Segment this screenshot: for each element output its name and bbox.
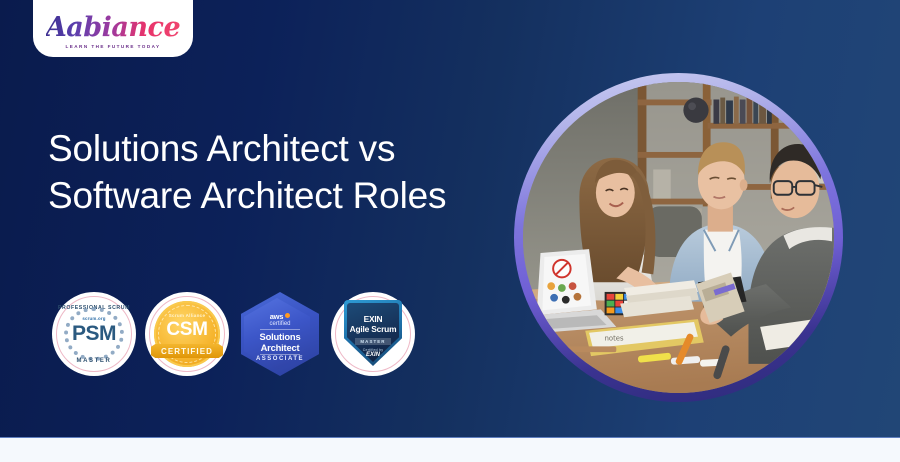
badge-psm-org: scrum.org bbox=[52, 316, 136, 321]
brand-logo[interactable]: Aabiance LEARN THE FUTURE TODAY bbox=[33, 0, 193, 57]
page-title: Solutions Architect vs Software Architec… bbox=[48, 125, 518, 220]
bottom-strip bbox=[0, 437, 900, 462]
divider-top bbox=[260, 329, 300, 330]
brand-tagline: LEARN THE FUTURE TODAY bbox=[66, 44, 161, 49]
divider-bottom bbox=[260, 354, 300, 355]
badge-aws-certified-label: certified bbox=[238, 321, 322, 327]
photo-gradient-ring: notes bbox=[514, 73, 843, 402]
certification-badge-row: PROFESSIONAL SCRUM scrum.org PSM MASTER … bbox=[52, 292, 415, 376]
badge-exin-title: EXIN Agile Scrum bbox=[339, 314, 407, 335]
badge-aws-level: ASSOCIATE bbox=[238, 356, 322, 362]
brand-wordmark: Aabiance bbox=[46, 14, 180, 41]
badge-aws-title: Solutions Architect bbox=[238, 332, 322, 354]
aws-smile-dot-icon bbox=[285, 313, 290, 318]
badge-psm-arc-bottom: MASTER bbox=[52, 358, 136, 364]
badge-aws-header: aws certified bbox=[238, 312, 322, 327]
badge-professional-scrum-master[interactable]: PROFESSIONAL SCRUM scrum.org PSM MASTER bbox=[52, 292, 136, 376]
badge-exin-level: MASTER bbox=[355, 338, 391, 345]
page-title-line-1: Solutions Architect vs bbox=[48, 125, 518, 172]
badge-exin-agile-scrum-master[interactable]: EXIN Agile Scrum MASTER Certified by EXI… bbox=[331, 292, 415, 376]
badge-exin-brand: EXIN bbox=[331, 352, 415, 358]
page-title-line-2: Software Architect Roles bbox=[48, 172, 518, 219]
badge-psm-acronym: PSM bbox=[52, 322, 136, 346]
svg-text:notes: notes bbox=[605, 335, 624, 343]
badge-csm-org: Scrum Alliance bbox=[145, 313, 229, 318]
badge-aws-solutions-architect[interactable]: aws certified Solutions Architect ASSOCI… bbox=[238, 292, 322, 376]
aws-logo: aws bbox=[238, 312, 322, 321]
hero-banner: Aabiance LEARN THE FUTURE TODAY Solution… bbox=[0, 0, 900, 437]
badge-csm-ribbon: CERTIFIED bbox=[151, 344, 223, 358]
team-study-photo: notes bbox=[523, 82, 834, 393]
badge-certified-scrum-master[interactable]: Scrum Alliance CSM CERTIFIED bbox=[145, 292, 229, 376]
badge-csm-acronym: CSM bbox=[145, 319, 229, 341]
